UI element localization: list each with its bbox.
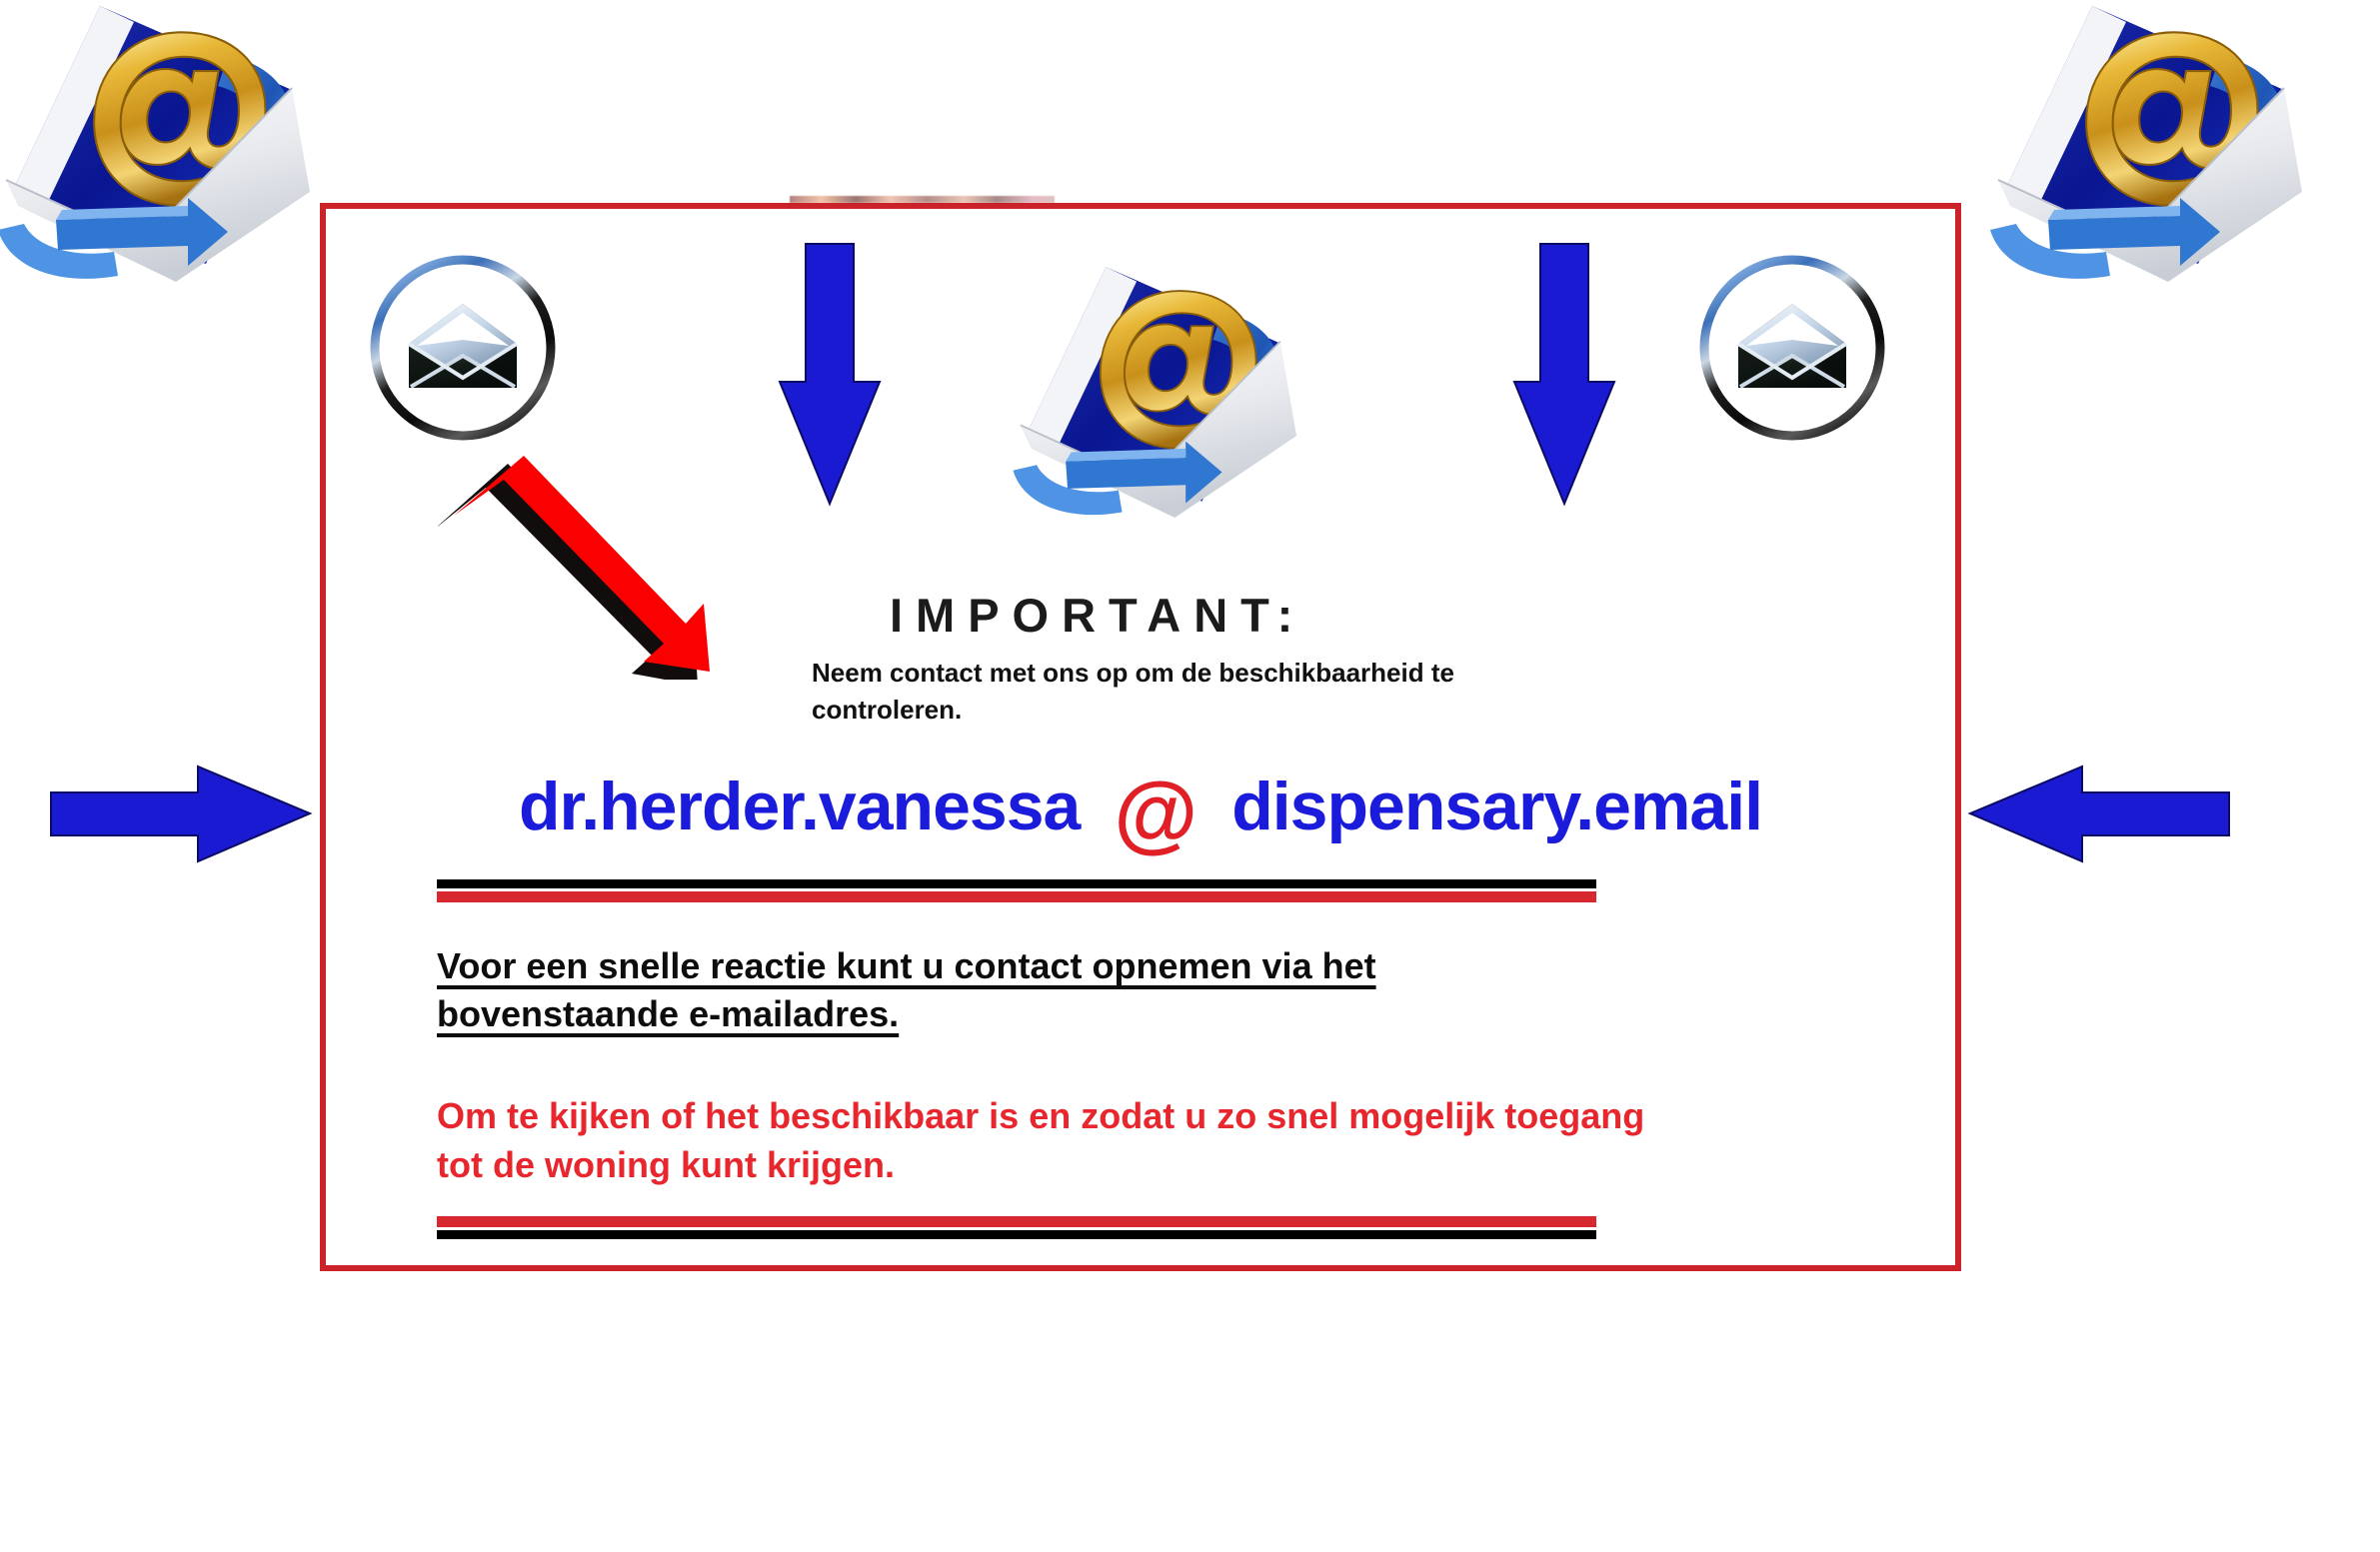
important-subheading: Neem contact met ons op om de beschikbaa… <box>812 655 1611 729</box>
divider-rule-bottom <box>437 1216 1596 1239</box>
email-local-part[interactable]: dr.herder.vanessa <box>519 768 1080 845</box>
arrow-left-icon <box>1967 762 2232 866</box>
arrow-down-icon-left <box>775 240 885 510</box>
email-at-envelope-icon-top-right <box>1984 0 2314 284</box>
circle-envelope-icon-right <box>1692 248 1892 448</box>
at-symbol-icon: @ <box>1114 776 1197 852</box>
poster-canvas: IMPORTANT: Neem contact met ons op om de… <box>0 0 2380 1552</box>
important-heading: IMPORTANT: <box>890 588 1305 643</box>
instruction-text: Voor een snelle reactie kunt u contact o… <box>437 945 1376 1034</box>
email-address-row[interactable]: dr.herder.vanessa @ dispensary.email <box>320 752 1961 861</box>
arrow-down-icon-right <box>1509 240 1619 510</box>
email-at-envelope-icon-top-left <box>0 0 322 284</box>
divider-rule-red-bottom <box>437 1216 1596 1227</box>
email-at-envelope-icon-center <box>1008 222 1307 554</box>
reason-paragraph: Om te kijken of het beschikbaar is en zo… <box>437 1092 1686 1189</box>
divider-rule-red <box>437 891 1596 902</box>
divider-rule-black-bottom <box>437 1230 1596 1239</box>
arrow-right-icon <box>48 762 313 866</box>
email-domain-part[interactable]: dispensary.email <box>1231 768 1762 845</box>
circle-envelope-icon-left <box>363 248 563 448</box>
arrow-diagonal-down-right-icon <box>438 440 728 680</box>
divider-rule-black <box>437 879 1596 888</box>
instruction-paragraph: Voor een snelle reactie kunt u contact o… <box>437 942 1596 1037</box>
divider-rule-top <box>437 879 1596 902</box>
clipped-content-artifact <box>790 196 1055 203</box>
